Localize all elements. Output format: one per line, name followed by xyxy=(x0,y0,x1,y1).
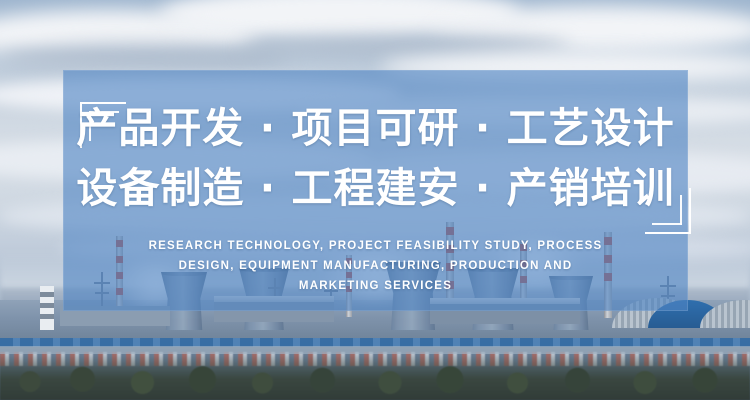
tree-line xyxy=(0,354,750,400)
headline-line-2: 设备制造 · 工程建安 · 产销培训 xyxy=(63,158,688,218)
subtitle-block: RESEARCH TECHNOLOGY, PROJECT FEASIBILITY… xyxy=(128,236,623,296)
subtitle-line-3: MARKETING SERVICES xyxy=(128,276,623,296)
headline-line-1: 产品开发 · 项目可研 · 工艺设计 xyxy=(63,98,688,158)
control-tower xyxy=(40,286,54,330)
subtitle-line-2: DESIGN, EQUIPMENT MANUFACTURING, PRODUCT… xyxy=(128,256,623,276)
service-banner: 产品开发 · 项目可研 · 工艺设计 设备制造 · 工程建安 · 产销培训 RE… xyxy=(0,0,750,400)
headline-block: 产品开发 · 项目可研 · 工艺设计 设备制造 · 工程建安 · 产销培训 xyxy=(63,98,688,218)
subtitle-line-1: RESEARCH TECHNOLOGY, PROJECT FEASIBILITY… xyxy=(128,236,623,256)
warehouse-row xyxy=(0,346,750,354)
